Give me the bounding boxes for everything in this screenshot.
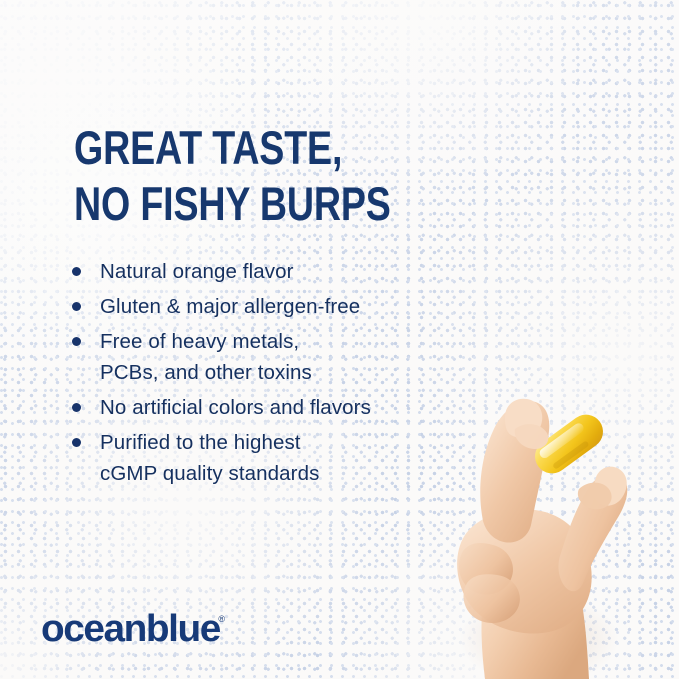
bullet-dot-icon <box>72 267 81 276</box>
headline-line-2: NO FISHY BURPS <box>74 176 391 232</box>
feature-bullet-wrap-line: PCBs, and other toxins <box>100 357 312 388</box>
feature-bullet-text: Free of heavy metals,PCBs, and other tox… <box>100 326 312 388</box>
feature-bullet-wrap-line: cGMP quality standards <box>100 458 319 489</box>
feature-bullet-line: Purified to the highest <box>100 427 319 458</box>
bullet-dot-icon <box>72 438 81 447</box>
feature-bullet-text: No artificial colors and flavors <box>100 392 371 423</box>
product-feature-graphic: GREAT TASTE,NO FISHY BURPS Natural orang… <box>0 0 679 679</box>
feature-bullet-item: Gluten & major allergen-free <box>72 291 472 322</box>
feature-bullet-list: Natural orange flavorGluten & major alle… <box>72 256 472 493</box>
feature-bullet-item: Free of heavy metals,PCBs, and other tox… <box>72 326 472 388</box>
feature-bullet-line: No artificial colors and flavors <box>100 392 371 423</box>
feature-bullet-item: Natural orange flavor <box>72 256 472 287</box>
bullet-dot-icon <box>72 403 81 412</box>
feature-bullet-line: Free of heavy metals, <box>100 326 312 357</box>
headline: GREAT TASTE,NO FISHY BURPS <box>74 120 391 232</box>
brand-logo: oceanblue ® <box>41 610 225 648</box>
bullet-dot-icon <box>72 337 81 346</box>
bullet-dot-icon <box>72 302 81 311</box>
feature-bullet-item: Purified to the highestcGMP quality stan… <box>72 427 472 489</box>
feature-bullet-line: Gluten & major allergen-free <box>100 291 360 322</box>
brand-logo-wordmark: oceanblue <box>41 610 220 648</box>
feature-bullet-text: Purified to the highestcGMP quality stan… <box>100 427 319 489</box>
feature-bullet-item: No artificial colors and flavors <box>72 392 472 423</box>
headline-line-1: GREAT TASTE, <box>74 121 342 174</box>
feature-bullet-text: Natural orange flavor <box>100 256 294 287</box>
feature-bullet-line: Natural orange flavor <box>100 256 294 287</box>
feature-bullet-text: Gluten & major allergen-free <box>100 291 360 322</box>
